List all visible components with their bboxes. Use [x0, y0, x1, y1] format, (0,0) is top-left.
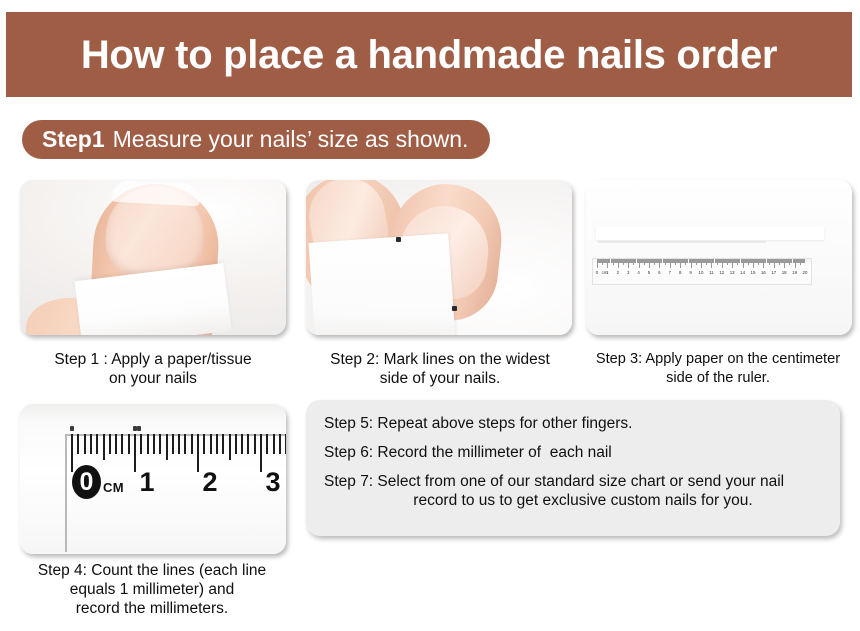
- ruler-minor-tick: [77, 434, 79, 454]
- caption-step-4: Step 4: Count the lines (each line equal…: [8, 561, 296, 618]
- caption-step-2-line-2: side of your nails.: [300, 369, 580, 388]
- step1-description: Measure your nails’ size as shown.: [113, 126, 469, 153]
- ruler-minor-tick: [96, 434, 98, 454]
- pen-mark-bottom: [452, 306, 457, 311]
- ruler-minor-tick: [235, 434, 237, 454]
- caption-step-4-line-2: equals 1 millimeter) and: [8, 580, 296, 599]
- ruler-number-3: 3: [627, 270, 629, 275]
- paper-strip-shadow: [598, 241, 766, 243]
- step1-banner: Step1 Measure your nails’ size as shown.: [22, 120, 490, 159]
- ruler-minor-tick: [191, 434, 193, 454]
- ruler-number-1: 1: [139, 467, 154, 498]
- ruler-minor-tick: [254, 434, 256, 454]
- ruler-minor-tick: [147, 434, 149, 454]
- ruler-number-17: 17: [771, 270, 776, 275]
- photo-card-step3: 01234567891011121314151617181920cm: [586, 180, 852, 335]
- caption-step-4-line-3: record the millimeters.: [8, 599, 296, 618]
- ruler-number-15: 15: [751, 270, 756, 275]
- photo-thumb-with-paper: [20, 180, 286, 335]
- ruler-minor-tick: [128, 434, 130, 454]
- ruler-minor-tick: [247, 434, 249, 454]
- photo-card-step4: 0 CM 1 2 3: [20, 404, 286, 554]
- ruler-minor-tick: [172, 434, 174, 454]
- ruler-minor-tick: [273, 434, 275, 454]
- ruler-minor-tick: [216, 434, 218, 454]
- ruler-unit-label: CM: [103, 480, 124, 495]
- ruler-minor-tick: [241, 434, 243, 454]
- steps-info-panel: Step 5: Repeat above steps for other fin…: [306, 400, 840, 536]
- ruler-major-tick: [197, 434, 199, 472]
- ruler-minor-tick: [153, 434, 155, 454]
- photo-card-step1: [20, 180, 286, 335]
- paper-strip-shape: [308, 233, 455, 335]
- ruler-number-18: 18: [782, 270, 787, 275]
- ruler-minor-tick: [140, 434, 142, 454]
- ruler-minor-tick: [166, 434, 168, 460]
- photo-ruler-closeup: 0 CM 1 2 3: [20, 404, 286, 554]
- pen-mark-top: [396, 237, 401, 242]
- caption-step-3: Step 3: Apply paper on the centimeter si…: [576, 350, 860, 388]
- ruler-number-20: 20: [803, 270, 808, 275]
- ruler-minor-tick: [203, 434, 205, 454]
- ruler-number-11: 11: [709, 270, 714, 275]
- ruler-minor-tick: [159, 434, 161, 454]
- ruler-number-3: 3: [265, 467, 280, 498]
- ruler-minor-tick: [103, 434, 105, 460]
- ruler-edge-nub: [70, 426, 74, 431]
- step1-label: Step1: [42, 126, 105, 153]
- ruler-minor-tick: [115, 434, 117, 454]
- long-ruler-shape: 01234567891011121314151617181920cm: [592, 258, 812, 285]
- ruler-minor-tick: [222, 434, 224, 454]
- ruler-minor-tick: [121, 434, 123, 454]
- info-line-step-7: Step 7: Select from one of our standard …: [324, 472, 822, 510]
- caption-step-1: Step 1 : Apply a paper/tissue on your na…: [10, 350, 296, 388]
- caption-step-3-line-1: Step 3: Apply paper on the centimeter: [576, 350, 860, 369]
- caption-step-4-line-1: Step 4: Count the lines (each line: [8, 561, 296, 580]
- ruler-minor-tick: [109, 434, 111, 454]
- info-line-step-6: Step 6: Record the millimeter of each na…: [324, 443, 822, 462]
- ruler-unit-label: cm: [602, 270, 608, 275]
- ruler-minor-tick: [84, 434, 86, 454]
- ruler-minor-tick: [210, 434, 212, 454]
- photo-card-step2: [306, 180, 572, 335]
- photo-marking-paper: [306, 180, 572, 335]
- ruler-number-0: 0: [596, 270, 598, 275]
- photo-paper-on-ruler: 01234567891011121314151617181920cm: [586, 180, 852, 335]
- page-header-band: How to place a handmade nails order: [6, 12, 852, 97]
- ruler-minor-tick: [279, 434, 281, 454]
- ruler-number-9: 9: [689, 270, 691, 275]
- ruler-number-10: 10: [699, 270, 704, 275]
- ruler-tick-marks: [65, 418, 286, 466]
- info-line-step-7-part-1: Step 7: Select from one of our standard …: [324, 473, 784, 490]
- ruler-minor-tick: [229, 434, 231, 460]
- ruler-minor-tick: [90, 434, 92, 454]
- ruler-zero-group: 0 CM: [72, 465, 124, 499]
- ruler-number-7: 7: [669, 270, 671, 275]
- nail-tip-shape: [111, 180, 200, 206]
- caption-step-2: Step 2: Mark lines on the widest side of…: [300, 350, 580, 388]
- ruler-number-16: 16: [761, 270, 766, 275]
- caption-step-1-line-1: Step 1 : Apply a paper/tissue: [10, 350, 296, 369]
- ruler-zero-label: 0: [72, 465, 101, 499]
- ruler-number-2: 2: [617, 270, 619, 275]
- ruler-number-5: 5: [648, 270, 650, 275]
- caption-step-2-line-1: Step 2: Mark lines on the widest: [300, 350, 580, 369]
- ruler-major-tick: [260, 434, 262, 472]
- ruler-number-6: 6: [658, 270, 660, 275]
- ruler-number-8: 8: [679, 270, 681, 275]
- caption-step-1-line-2: on your nails: [10, 369, 296, 388]
- ruler-number-2: 2: [202, 467, 217, 498]
- ruler-minor-tick: [266, 434, 268, 454]
- ruler-major-tick: [134, 434, 136, 472]
- ruler-number-12: 12: [719, 270, 724, 275]
- ruler-tick: [804, 259, 805, 263]
- ruler-number-4: 4: [637, 270, 639, 275]
- ruler-number-19: 19: [792, 270, 797, 275]
- info-line-step-7-part-2: record to us to get exclusive custom nai…: [324, 491, 822, 510]
- ruler-minor-tick: [178, 434, 180, 454]
- paper-strip-shape: [596, 227, 824, 240]
- caption-step-3-line-2: side of the ruler.: [576, 369, 860, 388]
- ruler-number-14: 14: [740, 270, 745, 275]
- info-line-step-5: Step 5: Repeat above steps for other fin…: [324, 414, 822, 433]
- ruler-minor-tick: [184, 434, 186, 454]
- page-title: How to place a handmade nails order: [81, 35, 777, 75]
- ruler-number-13: 13: [730, 270, 735, 275]
- ruler-edge-nub: [137, 426, 141, 431]
- ruler-minor-tick: [285, 434, 286, 454]
